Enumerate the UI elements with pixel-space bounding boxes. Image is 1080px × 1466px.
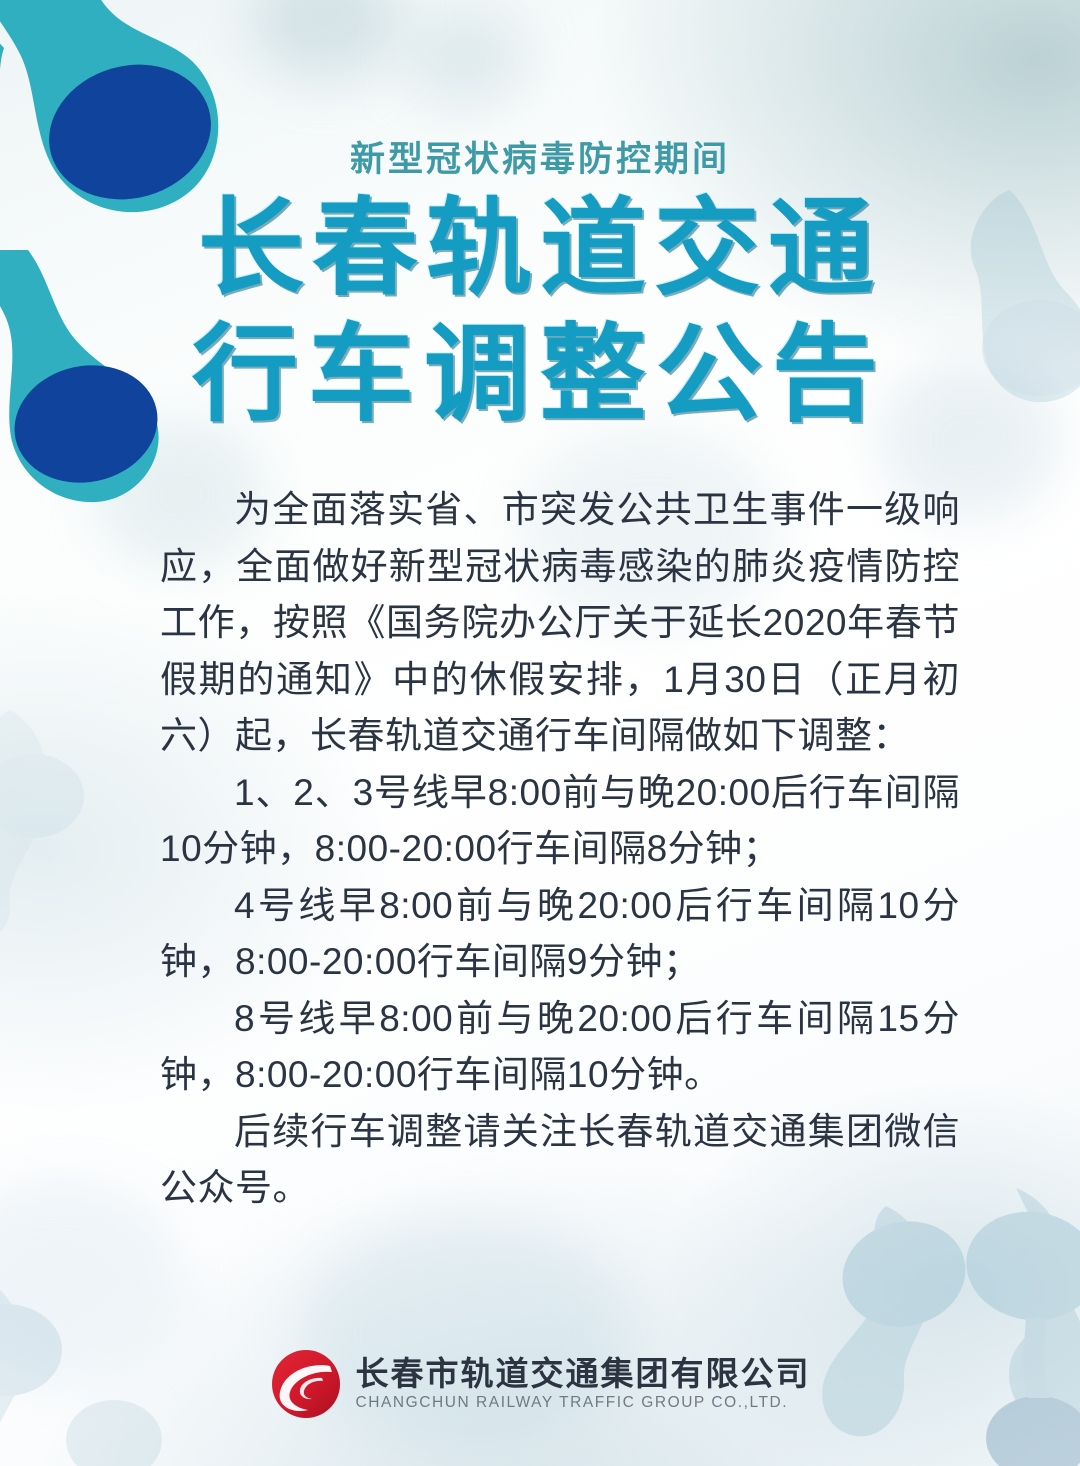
- company-logo-icon: [270, 1348, 342, 1420]
- poster-subtitle: 新型冠状病毒防控期间: [0, 131, 1080, 182]
- announcement-body: 为全面落实省、市突发公共卫生事件一级响应，全面做好新型冠状病毒感染的肺炎疫情防控…: [160, 482, 960, 1217]
- bokeh-blob: [405, 10, 525, 105]
- company-name-block: 长春市轨道交通集团有限公司 CHANGCHUN RAILWAY TRAFFIC …: [356, 1355, 811, 1413]
- poster-title-line-1: 长春轨道交通: [0, 186, 1080, 312]
- footer-logo-block: 长春市轨道交通集团有限公司 CHANGCHUN RAILWAY TRAFFIC …: [0, 1348, 1080, 1420]
- body-paragraph: 8号线早8:00前与晚20:00后行车间隔15分钟，8:00-20:00行车间隔…: [160, 991, 960, 1104]
- body-paragraph: 为全面落实省、市突发公共卫生事件一级响应，全面做好新型冠状病毒感染的肺炎疫情防控…: [160, 482, 960, 765]
- bokeh-blob: [250, 0, 400, 80]
- body-paragraph: 1、2、3号线早8:00前与晚20:00后行车间隔10分钟，8:00-20:00…: [160, 765, 960, 878]
- molecule-decoration-mid-left: [0, 700, 140, 960]
- company-name-en: CHANGCHUN RAILWAY TRAFFIC GROUP CO.,LTD.: [356, 1393, 811, 1413]
- company-name-cn: 长春市轨道交通集团有限公司: [356, 1355, 811, 1393]
- poster-canvas: 新型冠状病毒防控期间 长春轨道交通 行车调整公告 为全面落实省、市突发公共卫生事…: [0, 0, 1080, 1466]
- body-paragraph: 后续行车调整请关注长春轨道交通集团微信公众号。: [160, 1104, 960, 1217]
- poster-title-line-2: 行车调整公告: [0, 312, 1080, 438]
- poster-title-block: 长春轨道交通 行车调整公告: [0, 186, 1080, 438]
- body-paragraph: 4号线早8:00前与晚20:00后行车间隔10分钟，8:00-20:00行车间隔…: [160, 878, 960, 991]
